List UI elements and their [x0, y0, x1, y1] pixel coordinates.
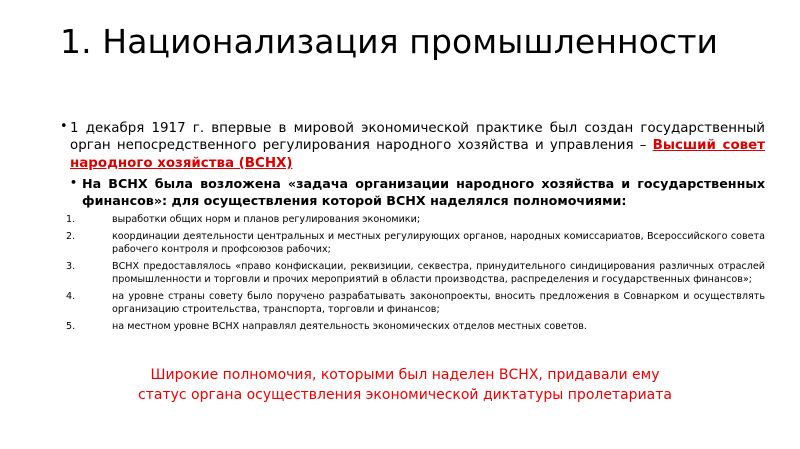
page-title: 1. Национализация промышленности — [60, 22, 760, 62]
list-item-text: ВСНХ предоставлялось «право конфискации,… — [112, 261, 765, 285]
list-item: 2.координации деятельности центральных и… — [0, 230, 800, 256]
list-item: 1.выработки общих норм и планов регулиро… — [0, 213, 800, 226]
bullet-marker-icon-2: • — [70, 176, 77, 191]
list-item-text: выработки общих норм и планов регулирова… — [112, 214, 420, 225]
list-item-number: 2. — [66, 230, 84, 243]
conclusion-line-1: Широкие полномочия, которыми был наделен… — [60, 366, 750, 386]
slide: 1. Национализация промышленности •1 дека… — [0, 0, 800, 449]
list-item: 4.на уровне страны совету было поручено … — [0, 290, 800, 316]
list-item: 5.на местном уровне ВСНХ направлял деяте… — [0, 320, 800, 333]
bullet-paragraph-1: •1 декабря 1917 г. впервые в мировой эко… — [0, 120, 800, 172]
bullet-marker-icon: • — [60, 119, 68, 136]
list-item-number: 4. — [66, 290, 84, 303]
list-item-text: на уровне страны совету было поручено ра… — [112, 291, 765, 315]
list-item-number: 3. — [66, 260, 84, 273]
paragraph-2-text: На ВСНХ была возложена «задача организац… — [82, 176, 765, 208]
slide-body: •1 декабря 1917 г. впервые в мировой эко… — [0, 120, 800, 337]
numbered-list: 1.выработки общих норм и планов регулиро… — [0, 213, 800, 333]
list-item-number: 5. — [66, 320, 84, 333]
list-item-text: координации деятельности центральных и м… — [112, 231, 765, 255]
conclusion-text: Широкие полномочия, которыми был наделен… — [60, 366, 750, 406]
bullet-paragraph-2: •На ВСНХ была возложена «задача организа… — [0, 176, 800, 210]
list-item-text: на местном уровне ВСНХ направлял деятель… — [112, 321, 587, 332]
list-item-number: 1. — [66, 213, 84, 226]
list-item: 3.ВСНХ предоставлялось «право конфискаци… — [0, 260, 800, 286]
conclusion-line-2: статус органа осуществления экономическо… — [60, 386, 750, 406]
